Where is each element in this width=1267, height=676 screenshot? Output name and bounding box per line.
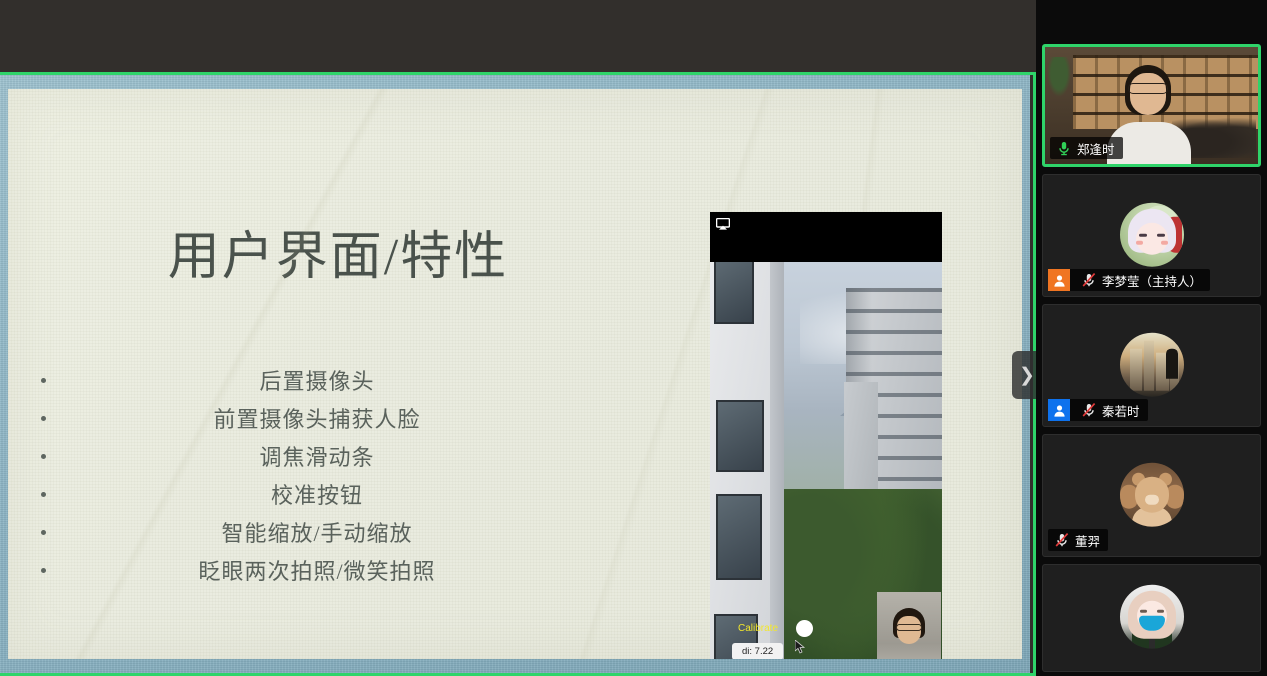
- mic-on-icon: [1056, 140, 1072, 156]
- participant-tile[interactable]: 董羿: [1042, 434, 1261, 557]
- participant-strip[interactable]: 郑逢时: [1036, 0, 1267, 676]
- window: [714, 262, 754, 324]
- avatar: [1120, 202, 1184, 266]
- list-item: 校准按钮: [30, 475, 630, 513]
- participant-tile[interactable]: 李梦莹（主持人）: [1042, 174, 1261, 297]
- participant-tile[interactable]: [1042, 564, 1261, 672]
- focus-slider-knob[interactable]: [796, 620, 813, 637]
- list-item: 后置摄像头: [30, 361, 630, 399]
- list-item: 调焦滑动条: [30, 437, 630, 475]
- mouse-cursor-icon: [795, 640, 806, 659]
- bullet-dot-icon: [30, 492, 56, 497]
- list-item-label: 前置摄像头捕获人脸: [56, 402, 630, 434]
- participant-nameplate: 郑逢时: [1050, 137, 1123, 159]
- avatar: [1120, 585, 1184, 649]
- window: [716, 400, 764, 472]
- embedded-video-player[interactable]: Calibrate di: 7.22 cd: 1.7 Capture Recor…: [710, 212, 942, 659]
- participant-tile[interactable]: 秦若时: [1042, 304, 1261, 427]
- facade-edge: [770, 262, 784, 659]
- window: [716, 494, 762, 580]
- shared-screen-region: 用户界面/特性 后置摄像头 前置摄像头捕获人脸 调焦滑动条: [0, 0, 1036, 676]
- avatar: [1120, 462, 1184, 526]
- participant-tile[interactable]: 郑逢时: [1042, 44, 1261, 167]
- calibrate-button[interactable]: Calibrate: [738, 623, 778, 634]
- participant-nameplate: 秦若时: [1048, 399, 1148, 421]
- participant-nameplate: 董羿: [1048, 529, 1108, 551]
- front-camera-preview: [877, 592, 941, 659]
- distance-readout: di: 7.22: [732, 643, 783, 659]
- page-title: 用户界面/特性: [108, 229, 568, 286]
- list-item-label: 眨眼两次拍照/微笑拍照: [56, 554, 630, 586]
- mic-muted-icon: [1081, 272, 1097, 288]
- list-item-label: 智能缩放/手动缩放: [56, 516, 630, 548]
- list-item: 眨眼两次拍照/微笑拍照: [30, 551, 630, 589]
- slide-frame: 用户界面/特性 后置摄像头 前置摄像头捕获人脸 调焦滑动条: [0, 75, 1030, 673]
- bullet-dot-icon: [30, 530, 56, 535]
- zoom-meeting-window: 用户界面/特性 后置摄像头 前置摄像头捕获人脸 调焦滑动条: [0, 0, 1267, 676]
- bullet-dot-icon: [30, 378, 56, 383]
- list-item: 前置摄像头捕获人脸: [30, 399, 630, 437]
- user-badge-icon: [1048, 399, 1070, 421]
- mic-muted-icon: [1081, 402, 1097, 418]
- slide-page: 用户界面/特性 后置摄像头 前置摄像头捕获人脸 调焦滑动条: [8, 89, 1022, 659]
- host-badge-icon: [1048, 269, 1070, 291]
- list-item-label: 校准按钮: [56, 478, 630, 510]
- list-item-label: 调焦滑动条: [56, 440, 630, 472]
- participant-name: 郑逢时: [1077, 139, 1115, 158]
- list-item: 智能缩放/手动缩放: [30, 513, 630, 551]
- avatar: [1120, 332, 1184, 396]
- participant-name: 秦若时: [1102, 401, 1140, 420]
- phone-camera-viewfinder: Calibrate di: 7.22 cd: 1.7 Capture Recor…: [710, 262, 942, 659]
- bullet-dot-icon: [30, 416, 56, 421]
- list-item-label: 后置摄像头: [56, 364, 630, 396]
- airplay-icon[interactable]: [716, 217, 730, 229]
- video-letterbox-top: [710, 212, 942, 262]
- participant-name: 董羿: [1075, 531, 1100, 550]
- bullet-dot-icon: [30, 568, 56, 573]
- bullet-dot-icon: [30, 454, 56, 459]
- next-slide-button[interactable]: ❯: [1012, 351, 1036, 399]
- participant-nameplate: 李梦莹（主持人）: [1048, 269, 1210, 291]
- participant-name: 李梦莹（主持人）: [1102, 271, 1202, 290]
- bullet-list: 后置摄像头 前置摄像头捕获人脸 调焦滑动条 校准按钮: [30, 361, 630, 589]
- mic-muted-icon: [1054, 532, 1070, 548]
